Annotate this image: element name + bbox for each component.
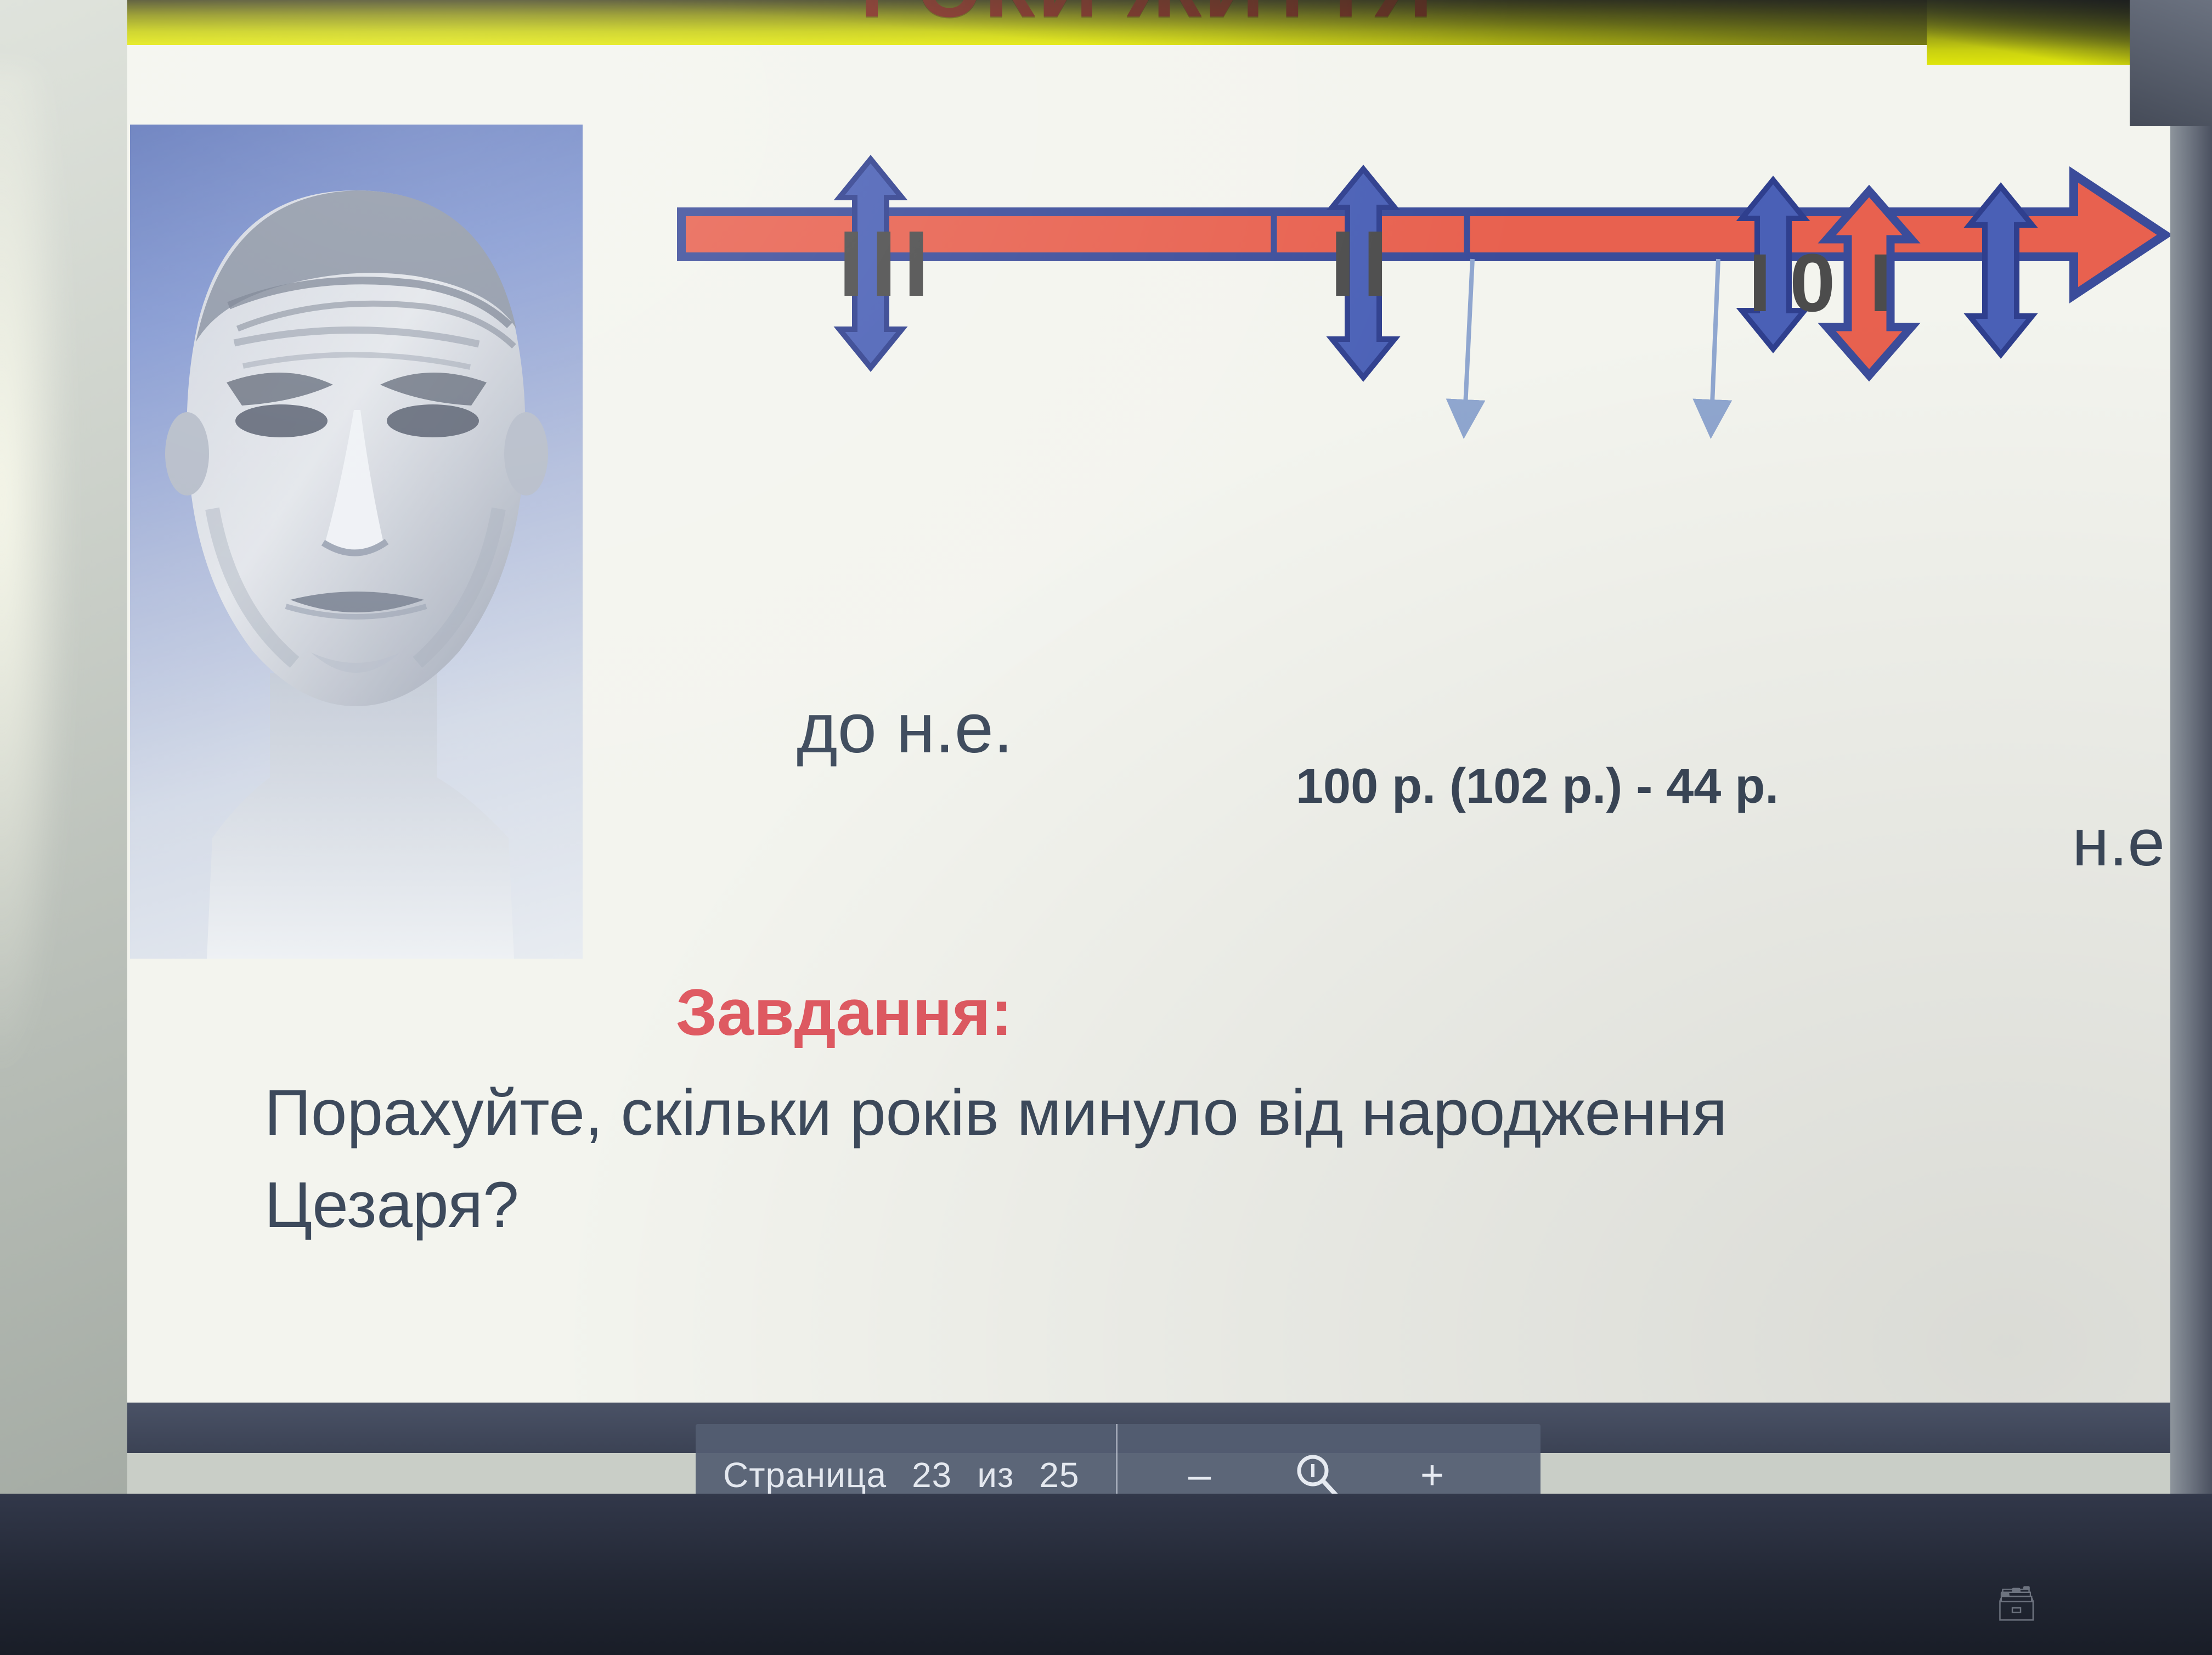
total-pages-value: 25	[1039, 1455, 1079, 1495]
photo-bezel-right	[2170, 0, 2212, 1655]
task-heading: Завдання:	[676, 975, 1013, 1050]
viewer-chrome-bar-bottom	[0, 1494, 2212, 1655]
era-label-ad: н.е.	[2072, 804, 2183, 881]
task-text-line-2: Цезаря?	[264, 1159, 1910, 1252]
zoom-in-button[interactable]: +	[1407, 1450, 1458, 1500]
year-zero-marker: 0	[1790, 241, 1835, 324]
photo-glare-left	[0, 66, 82, 1163]
current-page-value[interactable]: 23	[912, 1455, 952, 1495]
title-band-shadow	[123, 0, 2172, 45]
task-text-line-1: Порахуйте, скільки років минуло від наро…	[264, 1067, 1910, 1159]
year-annotations: 100 р. (102 р.) - 44 р.	[1296, 758, 1779, 815]
century-marker-3: III	[838, 217, 936, 311]
copy-icon[interactable]: 🗃	[1995, 1587, 2038, 1621]
century-marker-1-bc: I	[1748, 241, 1771, 324]
corner-icon-group: 🗃 ㅤ	[1995, 1587, 2146, 1621]
presentation-slide: РОКИ ЖИТТЯ	[127, 0, 2170, 1403]
photo-bezel-top-right	[2130, 0, 2212, 126]
century-marker-1-ad: I	[1869, 241, 1892, 324]
page-label: Страница	[723, 1455, 887, 1495]
century-marker-2: II	[1330, 217, 1395, 311]
title-band: РОКИ ЖИТТЯ	[123, 0, 2172, 45]
zoom-out-button[interactable]: –	[1175, 1450, 1225, 1500]
caesar-bust-image	[130, 125, 583, 959]
page-indicator-group: Страница 23 из 25	[696, 1455, 1080, 1495]
era-label-bc: до н.е.	[797, 688, 1013, 769]
signal-icon: ㅤ	[2115, 1587, 2146, 1621]
of-label: из	[977, 1455, 1014, 1495]
task-text: Порахуйте, скільки років минуло від наро…	[264, 1067, 1910, 1251]
monitor-photo: РОКИ ЖИТТЯ	[0, 0, 2212, 1655]
